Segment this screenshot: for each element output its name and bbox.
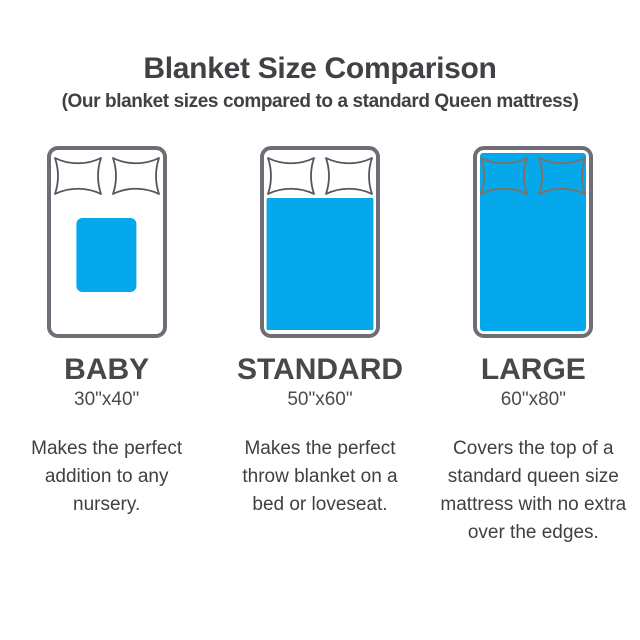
blanket-shape-large — [480, 153, 586, 331]
bed-diagram-baby — [47, 146, 167, 338]
pillow-left-icon — [268, 158, 314, 194]
page-title: Blanket Size Comparison — [0, 52, 640, 86]
size-description-standard: Makes the perfect throw blanket on a bed… — [225, 435, 415, 519]
infographic-root: Blanket Size Comparison (Our blanket siz… — [0, 0, 640, 640]
blanket-shape-baby — [76, 218, 136, 292]
pillow-left-icon — [55, 158, 101, 194]
page-subtitle: (Our blanket sizes compared to a standar… — [0, 90, 640, 114]
size-dimensions-baby: 30"x40" — [74, 389, 139, 411]
blanket-shape-standard — [267, 198, 374, 330]
size-description-large: Covers the top of a standard queen size … — [438, 435, 628, 547]
bed-diagram-large — [473, 146, 593, 338]
column-standard: STANDARD 50"x60" Makes the perfect throw… — [213, 146, 426, 547]
size-description-baby: Makes the perfect addition to any nurser… — [12, 435, 202, 519]
size-dimensions-standard: 50"x60" — [287, 389, 352, 411]
bed-illustration-baby — [47, 146, 167, 338]
bed-illustration-large — [473, 146, 593, 338]
bed-diagram-standard — [260, 146, 380, 338]
column-baby: BABY 30"x40" Makes the perfect addition … — [0, 146, 213, 547]
size-dimensions-large: 60"x80" — [501, 389, 566, 411]
size-name-large: LARGE — [481, 354, 586, 386]
pillow-right-icon — [113, 158, 159, 194]
bed-illustration-standard — [260, 146, 380, 338]
comparison-columns: BABY 30"x40" Makes the perfect addition … — [0, 146, 640, 547]
size-name-standard: STANDARD — [237, 354, 403, 386]
header: Blanket Size Comparison (Our blanket siz… — [0, 52, 640, 114]
size-name-baby: BABY — [64, 354, 149, 386]
pillow-right-icon — [326, 158, 372, 194]
column-large: LARGE 60"x80" Covers the top of a standa… — [427, 146, 640, 547]
